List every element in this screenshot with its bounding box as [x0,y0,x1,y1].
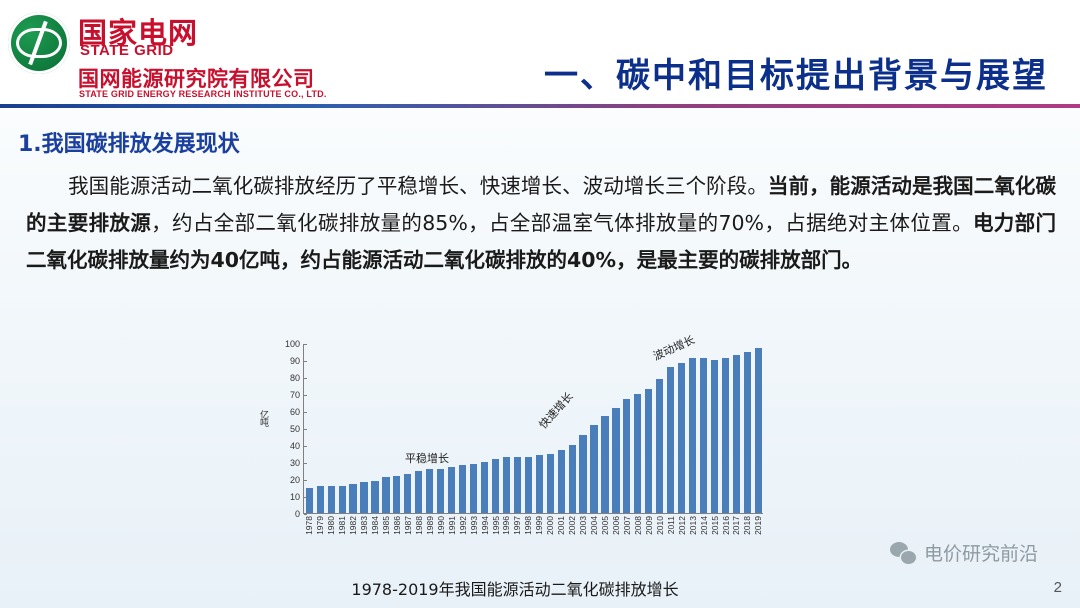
chart-x-label: 2008 [633,516,643,535]
chart-bar [667,367,674,513]
chart-bar [328,486,335,513]
chart-bar [481,462,488,513]
chart-y-tick: 70 [290,390,304,400]
chart-bar [393,476,400,513]
chart-x-label: 1987 [403,516,413,535]
chart-bar [415,471,422,514]
chart-bar [722,358,729,513]
chart-bar [349,484,356,513]
chart-bar [755,348,762,513]
chart-x-label: 1990 [436,516,446,535]
chart-bar [448,467,455,513]
chart-bar [634,394,641,513]
chart-bar [569,445,576,513]
chart-x-label: 1999 [534,516,544,535]
logo-english-primary: STATE GRID [80,42,174,59]
emissions-bar-chart: 亿吨 0102030405060708090100 19781979198019… [255,338,775,568]
chart-x-label: 1992 [458,516,468,535]
chart-bar [525,457,532,513]
chart-bar [470,464,477,513]
chart-y-tick: 100 [285,339,304,349]
chart-caption: 1978-2019年我国能源活动二氧化碳排放增长 [255,576,775,600]
chart-x-label: 1982 [348,516,358,535]
chart-bar [317,486,324,513]
chart-bar [623,399,630,513]
chart-x-label: 2012 [677,516,687,535]
chart-bar [492,459,499,513]
chart-y-tick: 80 [290,373,304,383]
chart-x-label: 1998 [523,516,533,535]
chart-y-tick: 50 [290,424,304,434]
chart-x-label: 1989 [425,516,435,535]
chart-bar [656,379,663,513]
watermark: 电价研究前沿 [890,539,1038,566]
chart-x-label: 1984 [370,516,380,535]
chart-x-label: 1997 [512,516,522,535]
chart-x-label: 2006 [611,516,621,535]
page-title: 一、碳中和目标提出背景与展望 [544,48,1048,97]
chart-x-label: 2018 [742,516,752,535]
chart-x-label: 2013 [688,516,698,535]
chart-x-label: 2017 [731,516,741,535]
chart-x-label: 1978 [304,516,314,535]
paragraph-segment-3: ，约占全部二氧化碳排放量的85%，占全部温室气体排放量的70%，占据绝对主体位置… [151,211,973,235]
chart-y-tick: 60 [290,407,304,417]
section-title: 1.我国碳排放发展现状 [18,126,240,158]
chart-bar [404,474,411,513]
chart-bar [306,488,313,514]
chart-bar [590,425,597,513]
chart-bar [700,358,707,513]
chart-x-label: 1996 [501,516,511,535]
chart-x-label: 1983 [359,516,369,535]
slide-header: 国家电网 STATE GRID 国网能源研究院有限公司 STATE GRID E… [0,0,1080,106]
chart-x-label: 2000 [545,516,555,535]
chart-bar [459,465,466,513]
chart-bar [437,469,444,513]
chart-x-label: 2001 [556,516,566,535]
chart-x-label: 1986 [392,516,402,535]
chart-bar [547,454,554,514]
chart-bar [382,477,389,513]
chart-bar [744,352,751,514]
organization-logo: 国家电网 STATE GRID 国网能源研究院有限公司 STATE GRID E… [8,8,338,100]
chart-bar [371,481,378,513]
chart-x-label: 2010 [655,516,665,535]
chart-x-label: 1995 [491,516,501,535]
chart-bar [678,363,685,513]
chart-x-label: 2011 [666,516,676,534]
watermark-label: 电价研究前沿 [924,539,1038,566]
chart-annotation-1: 平稳增长 [405,450,449,466]
chart-bar [426,469,433,513]
chart-bar [360,482,367,513]
page-number: 2 [1054,579,1062,596]
chart-bar [579,435,586,513]
chart-bar [558,450,565,513]
chart-x-label: 2002 [567,516,577,535]
chart-x-label: 1980 [326,516,336,535]
chart-x-label: 2016 [721,516,731,535]
wechat-icon [890,542,916,564]
chart-x-label: 2009 [644,516,654,535]
chart-plot-area: 0102030405060708090100 [303,344,763,514]
chart-y-tick: 30 [290,458,304,468]
chart-bar [536,455,543,513]
slide: 国家电网 STATE GRID 国网能源研究院有限公司 STATE GRID E… [0,0,1080,608]
chart-x-axis-labels: 1978197919801981198219831984198519861987… [303,516,763,566]
chart-bar [612,408,619,513]
chart-x-label: 2014 [699,516,709,535]
chart-bar [514,457,521,513]
chart-y-axis-title: 亿吨 [257,410,270,426]
chart-x-label: 1979 [315,516,325,535]
chart-bar [339,486,346,513]
logo-english-secondary: STATE GRID ENERGY RESEARCH INSTITUTE CO.… [79,89,327,99]
chart-x-label: 2005 [600,516,610,535]
chart-x-label: 1993 [469,516,479,535]
chart-x-label: 1994 [480,516,490,535]
chart-bar [711,360,718,513]
chart-y-tick: 90 [290,356,304,366]
chart-bar [601,416,608,513]
chart-x-label: 2007 [622,516,632,535]
chart-x-label: 1991 [447,516,457,535]
chart-x-label: 2019 [753,516,763,535]
chart-x-label: 2015 [710,516,720,535]
chart-bar [503,457,510,513]
chart-y-tick: 20 [290,475,304,485]
body-paragraph: 我国能源活动二氧化碳排放经历了平稳增长、快速增长、波动增长三个阶段。当前，能源活… [26,168,1056,279]
chart-x-label: 2003 [578,516,588,535]
header-divider [0,104,1080,108]
chart-x-label: 2004 [589,516,599,535]
state-grid-logo-icon [8,12,70,74]
chart-x-label: 1985 [381,516,391,535]
paragraph-segment-1: 我国能源活动二氧化碳排放经历了平稳增长、快速增长、波动增长三个阶段。 [68,174,768,198]
chart-bar [689,358,696,513]
chart-y-tick: 40 [290,441,304,451]
chart-bar [645,389,652,513]
chart-bar [733,355,740,513]
chart-x-label: 1988 [414,516,424,535]
chart-y-tick: 10 [290,492,304,502]
chart-x-label: 1981 [337,516,347,535]
